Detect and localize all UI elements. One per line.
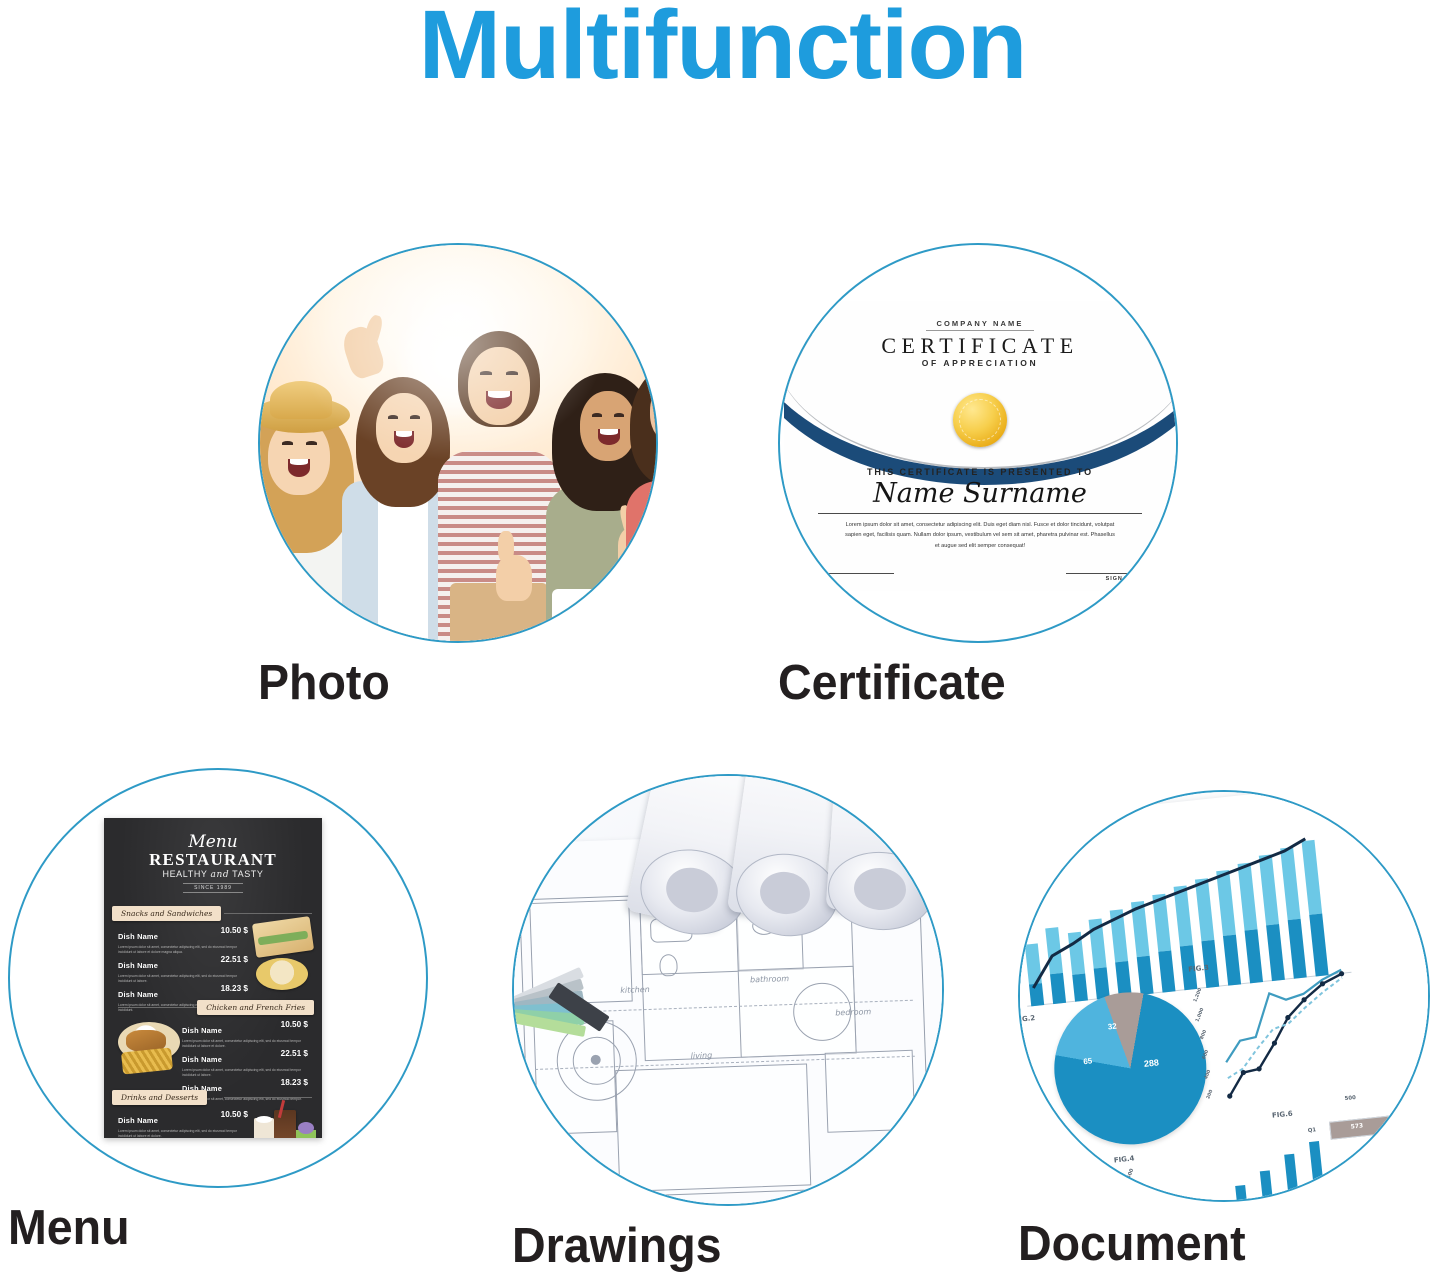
plan-label-bedroom: bedroom bbox=[835, 1007, 871, 1017]
menu-script-title: Menu bbox=[104, 832, 322, 852]
menu-item: 10.50 $ Dish Name Lorem ipsum dolor sit … bbox=[118, 1110, 248, 1138]
menu-item-name: Dish Name bbox=[182, 1026, 222, 1035]
menu-since: SINCE 1989 bbox=[183, 883, 243, 893]
certificate-recipient-name: Name Surname bbox=[784, 478, 1176, 509]
fig4-ytick-500: 500 bbox=[1126, 1168, 1135, 1180]
fig3-ytick-800: 800 bbox=[1200, 1030, 1208, 1041]
certificate-company-name: COMPANY NAME bbox=[784, 319, 1176, 328]
business-report-charts: 20 40 60 80 FIG.2 288 65 32 bbox=[1020, 792, 1428, 1200]
certificate-date-label: DATE bbox=[814, 576, 832, 582]
fig6-row-q1: Q1 bbox=[1308, 1127, 1317, 1134]
pie-label-32: 32 bbox=[1107, 1022, 1117, 1032]
fig3-ytick-1000: 1,000 bbox=[1195, 1008, 1205, 1023]
group-of-friends-photo bbox=[260, 245, 656, 641]
menu-tagline-right: TASTY bbox=[232, 869, 263, 879]
menu-item-name: Dish Name bbox=[118, 990, 158, 999]
menu-item-price: 18.23 $ bbox=[221, 984, 248, 993]
menu-item-name: Dish Name bbox=[118, 1116, 158, 1125]
menu-tagline: HEALTHY and TASTY bbox=[104, 869, 322, 880]
fig6-title: FIG.6 bbox=[1272, 1110, 1293, 1120]
menu-item: 22.51 $ Dish Name Lorem ipsum dolor sit … bbox=[182, 1049, 308, 1078]
fig4-title: FIG.4 bbox=[1113, 1154, 1134, 1164]
pie-label-288: 288 bbox=[1143, 1057, 1159, 1069]
drinks-dessert-icon bbox=[274, 1110, 296, 1138]
menu-tagline-and: and bbox=[210, 870, 229, 880]
menu-item-price: 18.23 $ bbox=[281, 1078, 308, 1087]
architectural-blueprints: kitchen bathroom living bedroom bbox=[514, 776, 942, 1204]
section-rule-3 bbox=[224, 1097, 312, 1098]
certificate-body-text: Lorem ipsum dolor sit amet, consectetur … bbox=[842, 520, 1118, 551]
menu-item-desc: Lorem ipsum dolor sit amet, consectetur … bbox=[118, 1129, 248, 1138]
menu-tagline-left: HEALTHY bbox=[162, 869, 207, 879]
chart-fig3: 200 400 600 800 1,000 1,200 bbox=[1211, 960, 1414, 1109]
menu-item-price: 22.51 $ bbox=[221, 955, 248, 964]
menu-section-label-3: Drinks and Desserts bbox=[112, 1090, 207, 1105]
fig3-ytick-200: 200 bbox=[1206, 1089, 1214, 1100]
plan-label-living: living bbox=[691, 1051, 713, 1061]
certificate-title: CERTIFICATE bbox=[784, 333, 1176, 359]
menu-item-desc: Lorem ipsum dolor sit amet, consectetur … bbox=[118, 974, 248, 984]
chart-fig4 bbox=[1231, 1136, 1376, 1202]
section-rule-2 bbox=[118, 1007, 202, 1008]
photo-circle-frame bbox=[258, 243, 658, 643]
menu-item-name: Dish Name bbox=[118, 961, 158, 970]
menu-title: RESTAURANT bbox=[104, 850, 322, 870]
fig3-ytick-1200: 1,200 bbox=[1193, 988, 1203, 1003]
certificate-circle-frame: COMPANY NAME CERTIFICATE OF APPRECIATION… bbox=[778, 243, 1178, 643]
menu-item-price: 22.51 $ bbox=[281, 1049, 308, 1058]
fig2-title: FIG.2 bbox=[1018, 1014, 1036, 1024]
page-title: Multifunction bbox=[0, 0, 1445, 96]
certificate-subtitle: OF APPRECIATION bbox=[784, 358, 1176, 368]
fig4-ytick-1000: 1,000 bbox=[1130, 1185, 1141, 1202]
menu-section-label-2: Chicken and French Fries bbox=[197, 1000, 314, 1015]
menu-circle-frame: Menu RESTAURANT HEALTHY and TASTY SINCE … bbox=[8, 768, 428, 1188]
company-rule bbox=[926, 330, 1034, 331]
date-line bbox=[808, 573, 894, 574]
menu-item-name: Dish Name bbox=[182, 1055, 222, 1064]
person-5 bbox=[626, 321, 658, 641]
menu-item: 10.50 $ Dish Name Lorem ipsum dolor sit … bbox=[182, 1020, 308, 1049]
name-underline bbox=[818, 513, 1142, 514]
plan-label-bathroom: bathroom bbox=[750, 974, 789, 984]
plan-label-kitchen: kitchen bbox=[620, 985, 650, 995]
menu-item-desc: Lorem ipsum dolor sit amet, consectetur … bbox=[118, 945, 248, 955]
chart-pie bbox=[1047, 985, 1214, 1152]
menu-section-label-1: Snacks and Sandwiches bbox=[112, 906, 221, 921]
menu-item-desc: Lorem ipsum dolor sit amet, consectetur … bbox=[182, 1068, 308, 1078]
menu-item: 22.51 $ Dish Name Lorem ipsum dolor sit … bbox=[118, 955, 248, 984]
fig6-col-500: 500 bbox=[1344, 1095, 1356, 1102]
menu-item-name: Dish Name bbox=[118, 932, 158, 941]
fries-plate-icon bbox=[256, 958, 308, 990]
menu-item-price: 10.50 $ bbox=[221, 926, 248, 935]
document-circle-frame: 20 40 60 80 FIG.2 288 65 32 bbox=[1018, 790, 1430, 1202]
certificate-presented-label: THIS CERTIFICATE IS PRESENTED TO bbox=[784, 467, 1176, 477]
gold-seal-icon bbox=[953, 393, 1007, 447]
menu-item: 10.50 $ Dish Name Lorem ipsum dolor sit … bbox=[118, 926, 248, 955]
drawings-circle-frame: kitchen bathroom living bedroom bbox=[512, 774, 944, 1206]
certificate-signature-label: SIGNATURE bbox=[1106, 576, 1146, 582]
restaurant-menu-poster: Menu RESTAURANT HEALTHY and TASTY SINCE … bbox=[104, 818, 322, 1138]
pie-label-65: 65 bbox=[1083, 1056, 1093, 1066]
section-rule-1 bbox=[224, 913, 312, 914]
menu-item-price: 10.50 $ bbox=[281, 1020, 308, 1029]
person-3 bbox=[436, 301, 562, 641]
menu-item-price: 10.50 $ bbox=[221, 1110, 248, 1119]
certificate-of-appreciation: COMPANY NAME CERTIFICATE OF APPRECIATION… bbox=[784, 301, 1176, 591]
report-page: 20 40 60 80 FIG.2 288 65 32 bbox=[1018, 790, 1430, 1202]
signature-line bbox=[1066, 573, 1152, 574]
menu-item-desc: Lorem ipsum dolor sit amet, consectetur … bbox=[182, 1039, 308, 1049]
